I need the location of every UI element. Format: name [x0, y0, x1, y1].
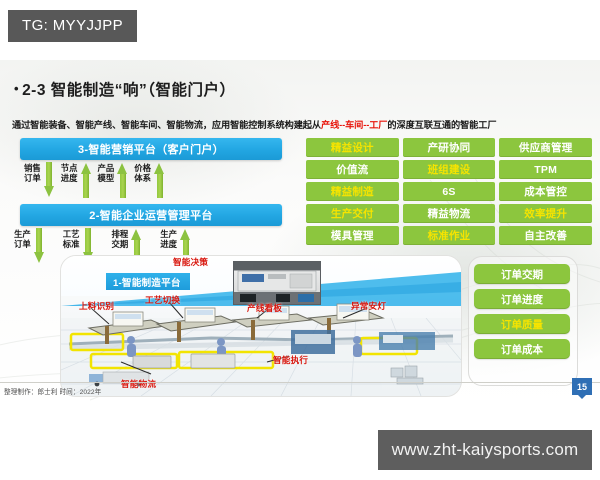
order-metrics-list: 订单交期订单进度订单质量订单成本	[474, 264, 570, 359]
flow-label: 价格体系	[134, 162, 151, 184]
flow-item: 生产订单	[14, 228, 45, 272]
capability-tag[interactable]: 精益设计	[306, 138, 399, 157]
factory-label-andon: 异常安灯	[351, 300, 386, 312]
tg-tag: TG: MYYJJPP	[8, 10, 137, 42]
capability-tag[interactable]: 供应商管理	[499, 138, 592, 157]
flow-label: 生产进度	[160, 228, 177, 250]
arrow-down-icon	[34, 228, 45, 264]
subtitle-highlight-line: 产线	[321, 120, 339, 130]
arrow-down-icon	[44, 162, 55, 198]
order-metric-box[interactable]: 订单交期	[474, 264, 570, 284]
arrow-up-icon	[117, 162, 128, 198]
factory-label-feeding-recognition: 上料识别	[79, 300, 114, 312]
subtitle-highlight-workshop: 车间	[345, 120, 363, 130]
flow-label: 工艺标准	[63, 228, 80, 250]
capability-tag[interactable]: 自主改善	[499, 226, 592, 245]
order-metric-box[interactable]: 订单进度	[474, 289, 570, 309]
capability-tag[interactable]: TPM	[499, 160, 592, 179]
subtitle-part1: 通过智能装备、智能产线、智能车间、智能物流，应用智能控制系统构建起从	[12, 120, 321, 130]
flow-label: 生产订单	[14, 228, 31, 250]
order-metric-box[interactable]: 订单成本	[474, 339, 570, 359]
capability-tag[interactable]: 产研协同	[403, 138, 496, 157]
production-line-graphics	[61, 256, 461, 396]
flow-label: 销售订单	[24, 162, 41, 184]
factory-label-decision: 智能决策	[173, 256, 208, 268]
capability-tag[interactable]: 精益物流	[403, 204, 496, 223]
factory-label-line-kanban: 产线看板	[247, 302, 282, 314]
capability-tag[interactable]: 价值流	[306, 160, 399, 179]
factory-label-process-switch: 工艺切换	[145, 294, 180, 306]
capability-tag[interactable]: 成本管控	[499, 182, 592, 201]
page-title: •2-3 智能制造“响”（智能门户）	[14, 78, 236, 100]
capability-tag[interactable]: 6S	[403, 182, 496, 201]
order-metric-box[interactable]: 订单质量	[474, 314, 570, 334]
flow-item: 销售订单	[24, 162, 55, 206]
arrow-up-icon	[154, 162, 165, 198]
flow-label: 排程交期	[112, 228, 129, 250]
factory-label-smart-logistics: 智能物流	[121, 378, 156, 390]
capability-tag[interactable]: 生产交付	[306, 204, 399, 223]
watermark: www.zht-kaiysports.com	[378, 430, 592, 470]
credit-text: 整理制作：郎士利 时间：2022年	[4, 386, 101, 396]
page-number-badge: 15	[572, 378, 592, 395]
subtitle-part2: 的深度互联互通的智能工厂	[387, 120, 496, 130]
flow-item: 节点进度	[61, 162, 92, 206]
subtitle-line: 通过智能装备、智能产线、智能车间、智能物流，应用智能控制系统构建起从产线--车间…	[12, 117, 588, 131]
flow-label: 产品模型	[98, 162, 115, 184]
arrow-up-icon	[81, 162, 92, 198]
factory-label-smart-execution: 智能执行	[273, 354, 308, 366]
platform-level-3[interactable]: 3-智能营销平台（客户门户）	[20, 138, 282, 160]
capability-tag-grid: 精益设计产研协同供应商管理价值流班组建设TPM精益制造6S成本管控生产交付精益物…	[306, 138, 592, 245]
capability-tag[interactable]: 效率提升	[499, 204, 592, 223]
flow-item: 产品模型	[98, 162, 129, 206]
capability-tag[interactable]: 精益制造	[306, 182, 399, 201]
flow-item: 价格体系	[134, 162, 165, 206]
smart-factory-illustration: 1-智能制造平台	[60, 255, 462, 397]
title-bullet: •	[14, 81, 19, 96]
footer-divider	[0, 382, 600, 383]
flow-label: 节点进度	[61, 162, 78, 184]
title-text: 2-3 智能制造“响”（智能门户）	[22, 82, 235, 99]
subtitle-highlight-factory: 工厂	[369, 120, 387, 130]
capability-tag[interactable]: 标准作业	[403, 226, 496, 245]
capability-tag[interactable]: 班组建设	[403, 160, 496, 179]
slide-canvas: •2-3 智能制造“响”（智能门户） 通过智能装备、智能产线、智能车间、智能物流…	[0, 60, 600, 410]
capability-tag[interactable]: 模具管理	[306, 226, 399, 245]
flow-row-top: 销售订单 节点进度 产品模型 价格体系	[10, 162, 312, 206]
platform-level-2[interactable]: 2-智能企业运营管理平台	[20, 204, 282, 226]
